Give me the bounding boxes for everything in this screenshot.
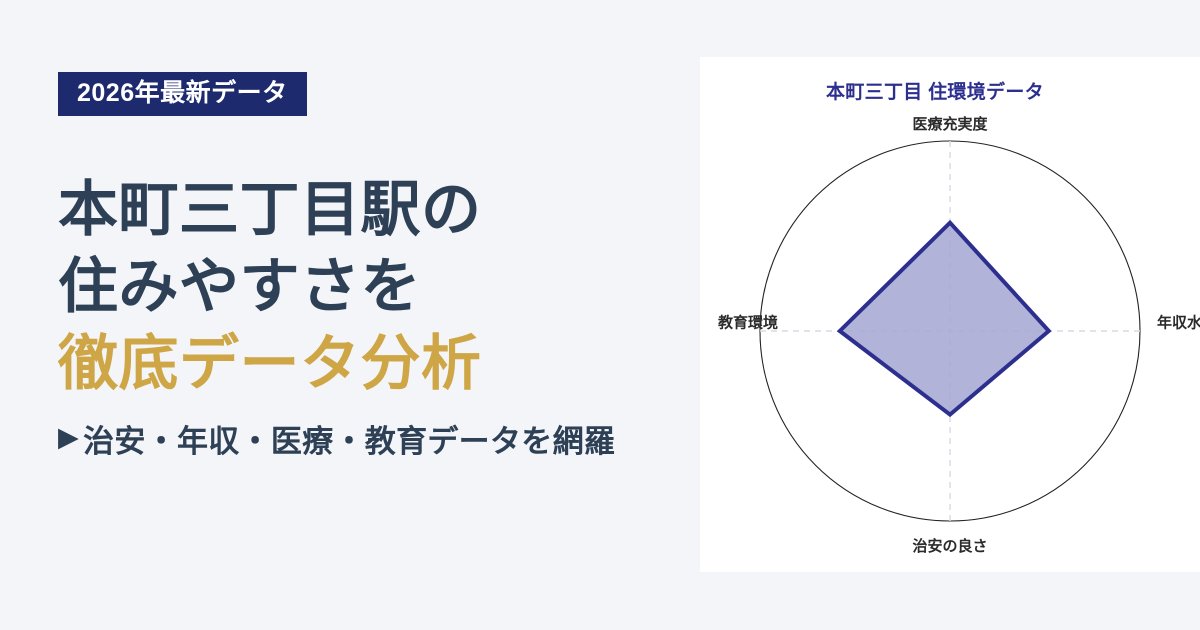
radar-axis-label-top: 医療充実度 [912,113,987,134]
page-title: 本町三丁目駅の 住みやすさを 徹底データ分析 [58,172,700,402]
radar-axis-label-left: 教育環境 [718,312,778,333]
headline-line-2: 住みやすさを [58,249,700,326]
radar-axis-label-right: 年収水準 [1157,312,1200,333]
radar-chart-panel: 本町三丁目 住環境データ 医療充実度 年収水準 治安の良さ 教育環境 [700,57,1200,572]
hero-text-pane: 2026年最新データ 本町三丁目駅の 住みやすさを 徹底データ分析 ▶ 治安・年… [0,0,700,630]
status-badge: 2026年最新データ [58,72,307,116]
subtitle: ▶ 治安・年収・医療・教育データを網羅 [58,416,700,461]
radar-data-polygon [840,223,1049,415]
headline-line-1: 本町三丁目駅の [58,172,700,249]
play-triangle-icon: ▶ [58,424,79,451]
radar-axis-label-bottom: 治安の良さ [912,535,987,556]
headline-line-3: 徹底データ分析 [58,326,700,403]
subtitle-label: 治安・年収・医療・教育データを網羅 [83,416,615,461]
